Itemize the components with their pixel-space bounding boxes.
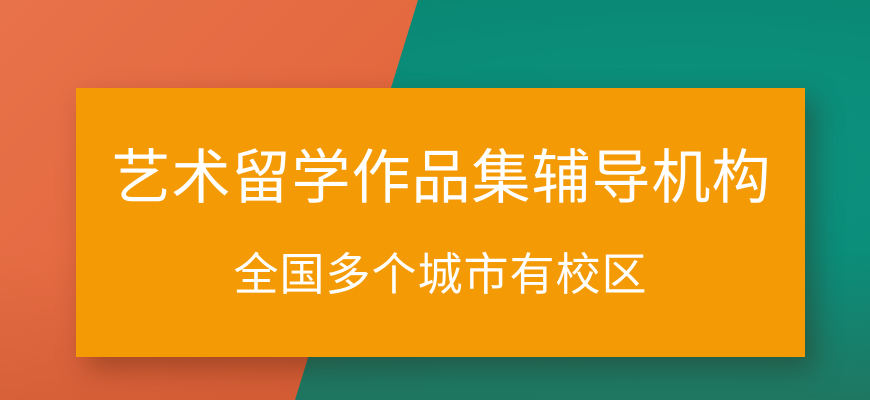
promo-banner: 艺术留学作品集辅导机构 全国多个城市有校区 [0, 0, 870, 400]
headline-card-content: 艺术留学作品集辅导机构 全国多个城市有校区 [76, 88, 805, 357]
banner-subheadline: 全国多个城市有校区 [233, 252, 647, 297]
banner-headline: 艺术留学作品集辅导机构 [111, 149, 771, 208]
headline-card: 艺术留学作品集辅导机构 全国多个城市有校区 [76, 88, 805, 357]
